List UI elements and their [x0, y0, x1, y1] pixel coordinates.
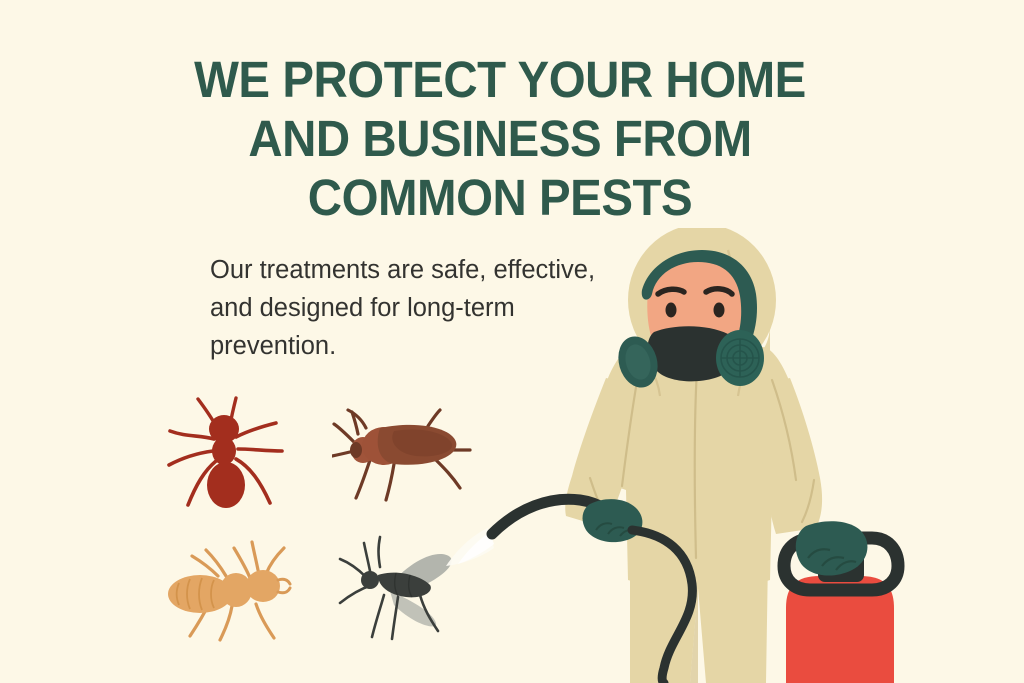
- ant-icon: [160, 393, 290, 508]
- pest-control-banner: WE PROTECT YOUR HOME AND BUSINESS FROM C…: [0, 0, 1024, 683]
- termite-icon: [158, 538, 298, 643]
- spray-tank: [784, 521, 898, 683]
- page-title: WE PROTECT YOUR HOME AND BUSINESS FROM C…: [35, 50, 965, 227]
- technician-illustration: [440, 228, 1024, 683]
